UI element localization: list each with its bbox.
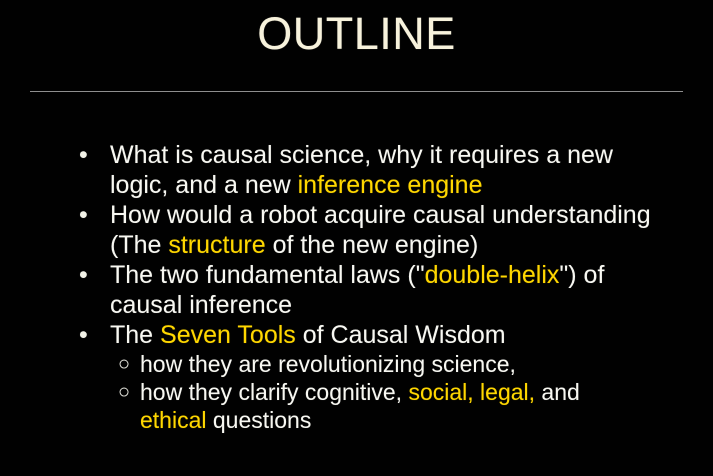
highlighted-term: ethical xyxy=(140,407,206,433)
sub-bullet-line: how they clarify cognitive, social, lega… xyxy=(140,378,695,406)
highlighted-term: social, xyxy=(408,379,473,405)
text-run: and xyxy=(535,379,580,405)
text-run: how they clarify cognitive, xyxy=(140,379,408,405)
text-run: (The xyxy=(110,231,168,259)
bullet-line: logic, and a new inference engine xyxy=(110,170,695,200)
text-run: ") of xyxy=(559,261,604,289)
presentation-slide: OUTLINE •What is causal science, why it … xyxy=(0,0,713,476)
text-run: What is causal science, why it requires … xyxy=(110,141,613,169)
bullet-line: The two fundamental laws ("double-helix"… xyxy=(110,260,695,290)
slide-title: OUTLINE xyxy=(0,6,713,62)
text-run: How would a robot acquire causal underst… xyxy=(110,201,651,229)
bullet-dot-icon: • xyxy=(79,200,99,230)
text-run: of the new engine) xyxy=(266,231,479,259)
text-run: questions xyxy=(206,407,311,433)
outline-sub-bullet-item[interactable]: ○how they are revolutionizing science, xyxy=(0,350,713,378)
highlighted-term: legal, xyxy=(480,379,535,405)
text-run: how they are revolutionizing science, xyxy=(140,351,516,377)
sub-bullet-line: ethical questions xyxy=(140,406,695,434)
bullet-line: What is causal science, why it requires … xyxy=(110,140,695,170)
sub-bullet-line: how they are revolutionizing science, xyxy=(140,350,695,378)
title-divider-rule xyxy=(30,91,683,92)
text-run: The xyxy=(110,321,160,349)
outline-sub-bullet-item[interactable]: ○how they clarify cognitive, social, leg… xyxy=(0,378,713,434)
highlighted-term: Seven Tools xyxy=(160,321,296,349)
highlighted-term: structure xyxy=(168,231,265,259)
highlighted-term: inference engine xyxy=(298,171,483,199)
outline-bullet-item[interactable]: •How would a robot acquire causal unders… xyxy=(0,200,713,260)
bullet-line: How would a robot acquire causal underst… xyxy=(110,200,695,230)
bullet-line: (The structure of the new engine) xyxy=(110,230,695,260)
outline-bullet-list: •What is causal science, why it requires… xyxy=(0,140,713,434)
bullet-dot-icon: • xyxy=(79,260,99,290)
sub-bullet-circle-icon: ○ xyxy=(118,378,138,406)
text-run: The two fundamental laws (" xyxy=(110,261,425,289)
outline-bullet-item[interactable]: •The two fundamental laws ("double-helix… xyxy=(0,260,713,320)
sub-bullet-circle-icon: ○ xyxy=(118,350,138,378)
bullet-line: causal inference xyxy=(110,290,695,320)
text-run: logic, and a new xyxy=(110,171,298,199)
bullet-dot-icon: • xyxy=(79,140,99,170)
outline-bullet-item[interactable]: •The Seven Tools of Causal Wisdom xyxy=(0,320,713,350)
outline-bullet-item[interactable]: •What is causal science, why it requires… xyxy=(0,140,713,200)
text-run: causal inference xyxy=(110,291,292,319)
bullet-line: The Seven Tools of Causal Wisdom xyxy=(110,320,695,350)
bullet-dot-icon: • xyxy=(79,320,99,350)
text-run: of Causal Wisdom xyxy=(296,321,506,349)
highlighted-term: double-helix xyxy=(425,261,560,289)
